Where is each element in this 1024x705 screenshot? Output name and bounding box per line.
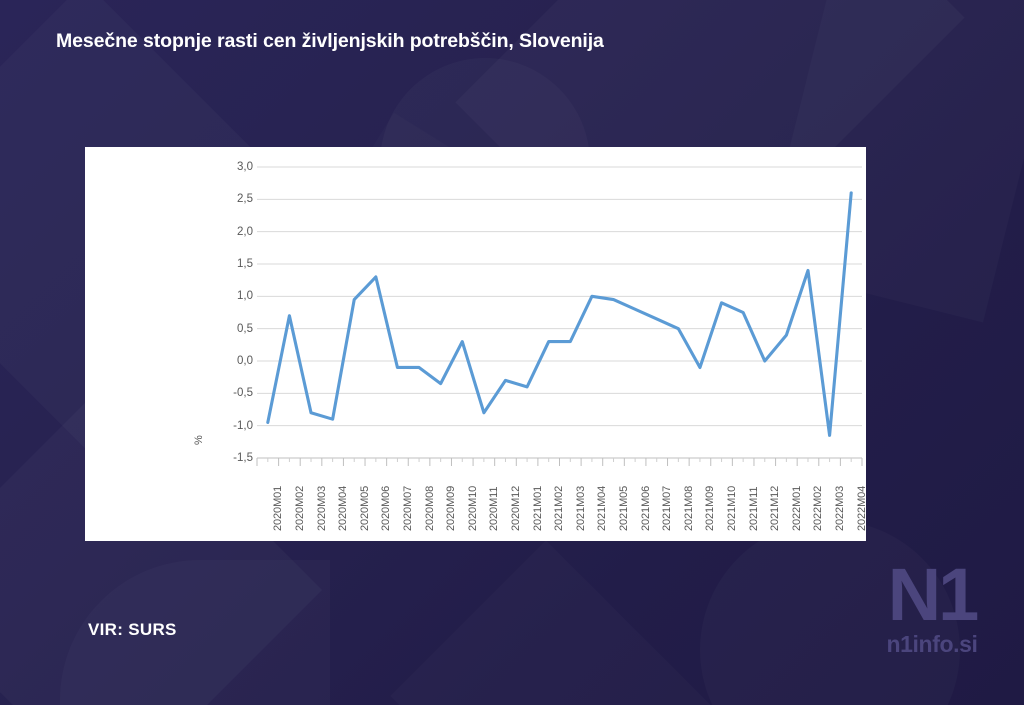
x-axis-tick-label: 2020M05: [359, 486, 371, 531]
x-axis-tick-label: 2022M01: [791, 486, 803, 531]
x-axis-tick-label: 2021M03: [575, 486, 587, 531]
chart-panel: % 3,02,52,01,51,00,50,0-0,5-1,0-1,5 2020…: [85, 147, 866, 541]
x-axis-tick-label: 2020M12: [510, 486, 522, 531]
page-title: Mesečne stopnje rasti cen življenjskih p…: [56, 30, 604, 53]
x-axis-tick-label: 2021M10: [726, 486, 738, 531]
x-axis-tick-label: 2020M03: [316, 486, 328, 531]
x-axis-tick-label: 2020M04: [337, 486, 349, 531]
x-axis-tick-label: 2021M04: [596, 486, 608, 531]
x-axis-tick-label: 2022M03: [834, 486, 846, 531]
x-axis-tick-label: 2020M09: [445, 486, 457, 531]
x-axis-tick-label: 2021M07: [661, 486, 673, 531]
n1-logo-url: n1info.si: [862, 631, 1002, 658]
x-axis-tick-label: 2020M10: [467, 486, 479, 531]
x-axis-tick-labels: 2020M012020M022020M032020M042020M052020M…: [85, 147, 866, 541]
background-decoration-shape: [390, 540, 729, 705]
x-axis-tick-label: 2020M06: [380, 486, 392, 531]
x-axis-tick-label: 2021M05: [618, 486, 630, 531]
x-axis-tick-label: 2020M11: [488, 487, 500, 531]
x-axis-tick-label: 2021M02: [553, 486, 565, 531]
x-axis-tick-label: 2021M09: [704, 486, 716, 531]
n1-logo[interactable]: N1 n1info.si: [862, 563, 1002, 658]
x-axis-tick-label: 2022M02: [812, 486, 824, 531]
x-axis-tick-label: 2021M06: [640, 486, 652, 531]
x-axis-tick-label: 2020M08: [424, 486, 436, 531]
x-axis-tick-label: 2020M01: [272, 486, 284, 531]
plot-area: % 3,02,52,01,51,00,50,0-0,5-1,0-1,5 2020…: [85, 147, 866, 541]
infographic-canvas: Mesečne stopnje rasti cen življenjskih p…: [0, 0, 1024, 705]
x-axis-tick-label: 2021M11: [748, 487, 760, 531]
x-axis-tick-label: 2020M07: [402, 486, 414, 531]
x-axis-tick-label: 2021M08: [683, 486, 695, 531]
x-axis-tick-label: 2022M04: [856, 486, 868, 531]
x-axis-tick-label: 2021M12: [769, 486, 781, 531]
source-note: VIR: SURS: [88, 620, 177, 640]
x-axis-tick-label: 2020M02: [294, 486, 306, 531]
x-axis-tick-label: 2021M01: [532, 486, 544, 531]
n1-logo-mark: N1: [862, 563, 1002, 627]
